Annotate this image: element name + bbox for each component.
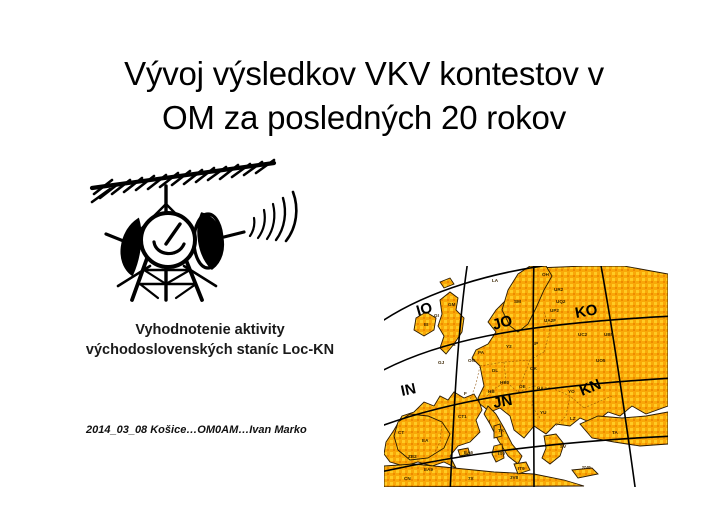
prefix-label: YO xyxy=(568,389,575,394)
prefix-label: SV xyxy=(560,444,567,449)
prefix-label: CT1 xyxy=(458,414,467,419)
prefix-label: 7X xyxy=(468,476,475,481)
prefix-label: PA xyxy=(478,350,485,355)
page-title: Vývoj výsledkov VKV kontestov v OM za po… xyxy=(64,52,664,140)
prefix-label: F xyxy=(464,391,467,396)
prefix-label: 3V8 xyxy=(510,475,519,480)
title-line-1: Vývoj výsledkov VKV kontestov v xyxy=(64,52,664,96)
prefix-label: UC2 xyxy=(578,332,588,337)
prefix-label: TA xyxy=(612,430,618,435)
subtitle: Vyhodnotenie aktivity východoslovenských… xyxy=(38,320,382,360)
prefix-label: CT xyxy=(398,430,404,435)
prefix-label: UA2F xyxy=(544,318,556,323)
left-dish-icon xyxy=(106,220,140,274)
prefix-label: HB xyxy=(488,389,495,394)
footer: 2014_03_08 Košice…OM0AM…Ivan Marko xyxy=(86,423,366,438)
prefix-label: UB5 xyxy=(604,332,614,337)
grid-label-JN: JN xyxy=(492,392,514,412)
map-body: IO JO KO IN JN KN LA OH SM UR2 UQ2 UP2 U… xyxy=(384,266,668,487)
prefix-label: IT9 xyxy=(518,466,525,471)
title-line-2: OM za posledných 20 rokov xyxy=(64,96,664,140)
prefix-label: UP2 xyxy=(550,308,559,313)
prefix-label: SP xyxy=(532,341,538,346)
prefix-label: OK xyxy=(530,366,538,371)
prefix-label: G xyxy=(452,342,456,347)
prefix-label: UR2 xyxy=(554,287,564,292)
prefix-label: SV9 xyxy=(582,465,591,470)
prefix-label: OH xyxy=(542,272,550,277)
right-dish-icon xyxy=(194,214,244,268)
yagi-antenna-icon xyxy=(92,160,274,202)
footer-credit: 2014_03_08 Košice…OM0AM…Ivan Marko xyxy=(86,423,366,438)
prefix-label: I xyxy=(489,419,490,424)
prefix-label: GM xyxy=(448,302,456,307)
prefix-label: EA6 xyxy=(464,450,473,455)
radio-waves-icon xyxy=(250,192,296,241)
prefix-label: GJ xyxy=(438,360,445,365)
prefix-label: SM xyxy=(514,299,521,304)
prefix-label: CN xyxy=(404,476,411,481)
presentation-slide: Vývoj výsledkov VKV kontestov v OM za po… xyxy=(0,0,728,507)
prefix-label: OE xyxy=(519,384,526,389)
prefix-label: HA xyxy=(537,386,544,391)
subtitle-line-2: východoslovenských staníc Loc-KN xyxy=(38,340,382,360)
clock-face-icon xyxy=(141,213,195,267)
europe-maidenhead-locator-map: IO JO KO IN JN KN LA OH SM UR2 UQ2 UP2 U… xyxy=(384,266,668,487)
prefix-label: ZB2 xyxy=(408,454,417,459)
prefix-label: YU xyxy=(540,410,547,415)
prefix-label: EA9 xyxy=(424,467,433,472)
prefix-label: TK xyxy=(498,428,505,433)
vhf-antenna-clock-logo xyxy=(78,158,314,310)
prefix-label: EA xyxy=(422,438,429,443)
prefix-label: IS0 xyxy=(498,451,505,456)
prefix-label: GI xyxy=(434,313,439,318)
prefix-label: HB0 xyxy=(500,380,510,385)
prefix-label: UQ2 xyxy=(556,299,566,304)
prefix-label: LA xyxy=(492,278,499,283)
prefix-label: EI xyxy=(424,322,428,327)
prefix-label: Y2 xyxy=(506,344,512,349)
prefix-label: UO5 xyxy=(596,358,606,363)
prefix-label: ON xyxy=(468,358,476,363)
prefix-label: DL xyxy=(492,368,498,373)
subtitle-line-1: Vyhodnotenie aktivity xyxy=(38,320,382,340)
prefix-label: LZ xyxy=(570,416,576,421)
